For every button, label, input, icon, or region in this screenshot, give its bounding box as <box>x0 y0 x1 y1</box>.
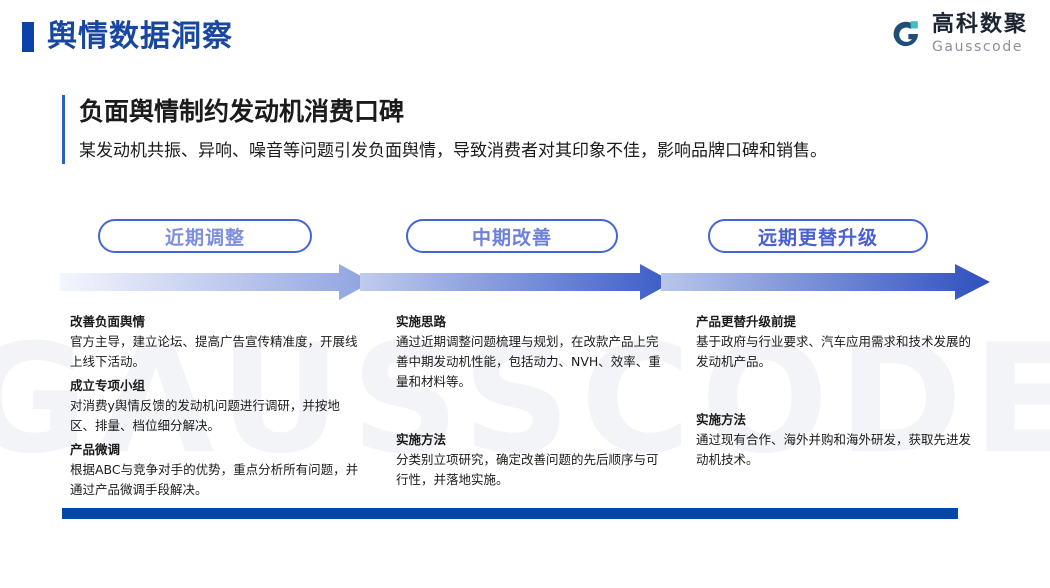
detail-block: 产品微调 根据ABC与竞争对手的优势，重点分析所有问题，并通过产品微调手段解决。 <box>70 440 360 500</box>
brand-logo: 高科数聚 Gausscode <box>889 14 1028 54</box>
detail-block-heading: 产品更替升级前提 <box>696 312 971 332</box>
slide-sub-title: 某发动机共振、异响、噪音等问题引发负面舆情，导致消费者对其印象不佳，影响品牌口碑… <box>79 138 1002 164</box>
detail-block: 改善负面舆情 官方主导，建立论坛、提高广告宣传精准度，开展线上线下活动。 <box>70 312 360 372</box>
detail-block-body: 官方主导，建立论坛、提高广告宣传精准度，开展线上线下活动。 <box>70 332 360 372</box>
detail-block-heading: 改善负面舆情 <box>70 312 360 332</box>
detail-block: 实施方法 分类别立项研究，确定改善问题的先后顺序与可行性，并落地实施。 <box>396 430 661 490</box>
slide-title-block: 负面舆情制约发动机消费口碑 某发动机共振、异响、噪音等问题引发负面舆情，导致消费… <box>62 95 1002 164</box>
column-spacer <box>696 376 971 410</box>
detail-block: 成立专项小组 对消费y舆情反馈的发动机问题进行调研，并按地区、排量、档位细分解决… <box>70 376 360 436</box>
detail-block: 实施方法 通过现有合作、海外并购和海外研发，获取先进发动机技术。 <box>696 410 971 470</box>
detail-block: 产品更替升级前提 基于政府与行业要求、汽车应用需求和技术发展的发动机产品。 <box>696 312 971 372</box>
footer-accent-bar <box>62 508 958 519</box>
three-stage-progress-arrow-icon <box>60 264 990 300</box>
stage-pill-near-term[interactable]: 近期调整 <box>98 219 312 253</box>
page-header: 舆情数据洞察 高科数聚 Gausscode <box>0 0 1050 72</box>
brand-name-en: Gausscode <box>932 40 1028 54</box>
detail-block-heading: 实施方法 <box>696 410 971 430</box>
gausscode-g-logo-icon <box>889 17 923 51</box>
column-near-term: 改善负面舆情 官方主导，建立论坛、提高广告宣传精准度，开展线上线下活动。 成立专… <box>70 312 360 504</box>
header-marker-icon <box>22 22 34 52</box>
stage-detail-columns: 改善负面舆情 官方主导，建立论坛、提高广告宣传精准度，开展线上线下活动。 成立专… <box>0 312 1050 497</box>
detail-block-body: 通过近期调整问题梳理与规划，在改款产品上完善中期发动机性能，包括动力、NVH、效… <box>396 332 661 392</box>
timeline-stage-pills: 近期调整 中期改善 远期更替升级 <box>0 219 1050 255</box>
detail-block-body: 对消费y舆情反馈的发动机问题进行调研，并按地区、排量、档位细分解决。 <box>70 396 360 436</box>
brand-name-cn: 高科数聚 <box>932 14 1028 36</box>
detail-block-heading: 产品微调 <box>70 440 360 460</box>
column-long-term: 产品更替升级前提 基于政府与行业要求、汽车应用需求和技术发展的发动机产品。 实施… <box>696 312 971 474</box>
detail-block: 实施思路 通过近期调整问题梳理与规划，在改款产品上完善中期发动机性能，包括动力、… <box>396 312 661 392</box>
brand-logo-text: 高科数聚 Gausscode <box>932 14 1028 54</box>
detail-block-heading: 实施思路 <box>396 312 661 332</box>
slide-main-title: 负面舆情制约发动机消费口碑 <box>79 95 1002 129</box>
detail-block-body: 基于政府与行业要求、汽车应用需求和技术发展的发动机产品。 <box>696 332 971 372</box>
stage-pill-long-term[interactable]: 远期更替升级 <box>708 219 928 253</box>
detail-block-body: 通过现有合作、海外并购和海外研发，获取先进发动机技术。 <box>696 430 971 470</box>
column-mid-term: 实施思路 通过近期调整问题梳理与规划，在改款产品上完善中期发动机性能，包括动力、… <box>396 312 661 494</box>
detail-block-heading: 成立专项小组 <box>70 376 360 396</box>
detail-block-heading: 实施方法 <box>396 430 661 450</box>
detail-block-body: 根据ABC与竞争对手的优势，重点分析所有问题，并通过产品微调手段解决。 <box>70 460 360 500</box>
column-spacer <box>396 396 661 430</box>
stage-pill-mid-term[interactable]: 中期改善 <box>406 219 618 253</box>
detail-block-body: 分类别立项研究，确定改善问题的先后顺序与可行性，并落地实施。 <box>396 450 661 490</box>
page-title: 舆情数据洞察 <box>47 16 233 58</box>
